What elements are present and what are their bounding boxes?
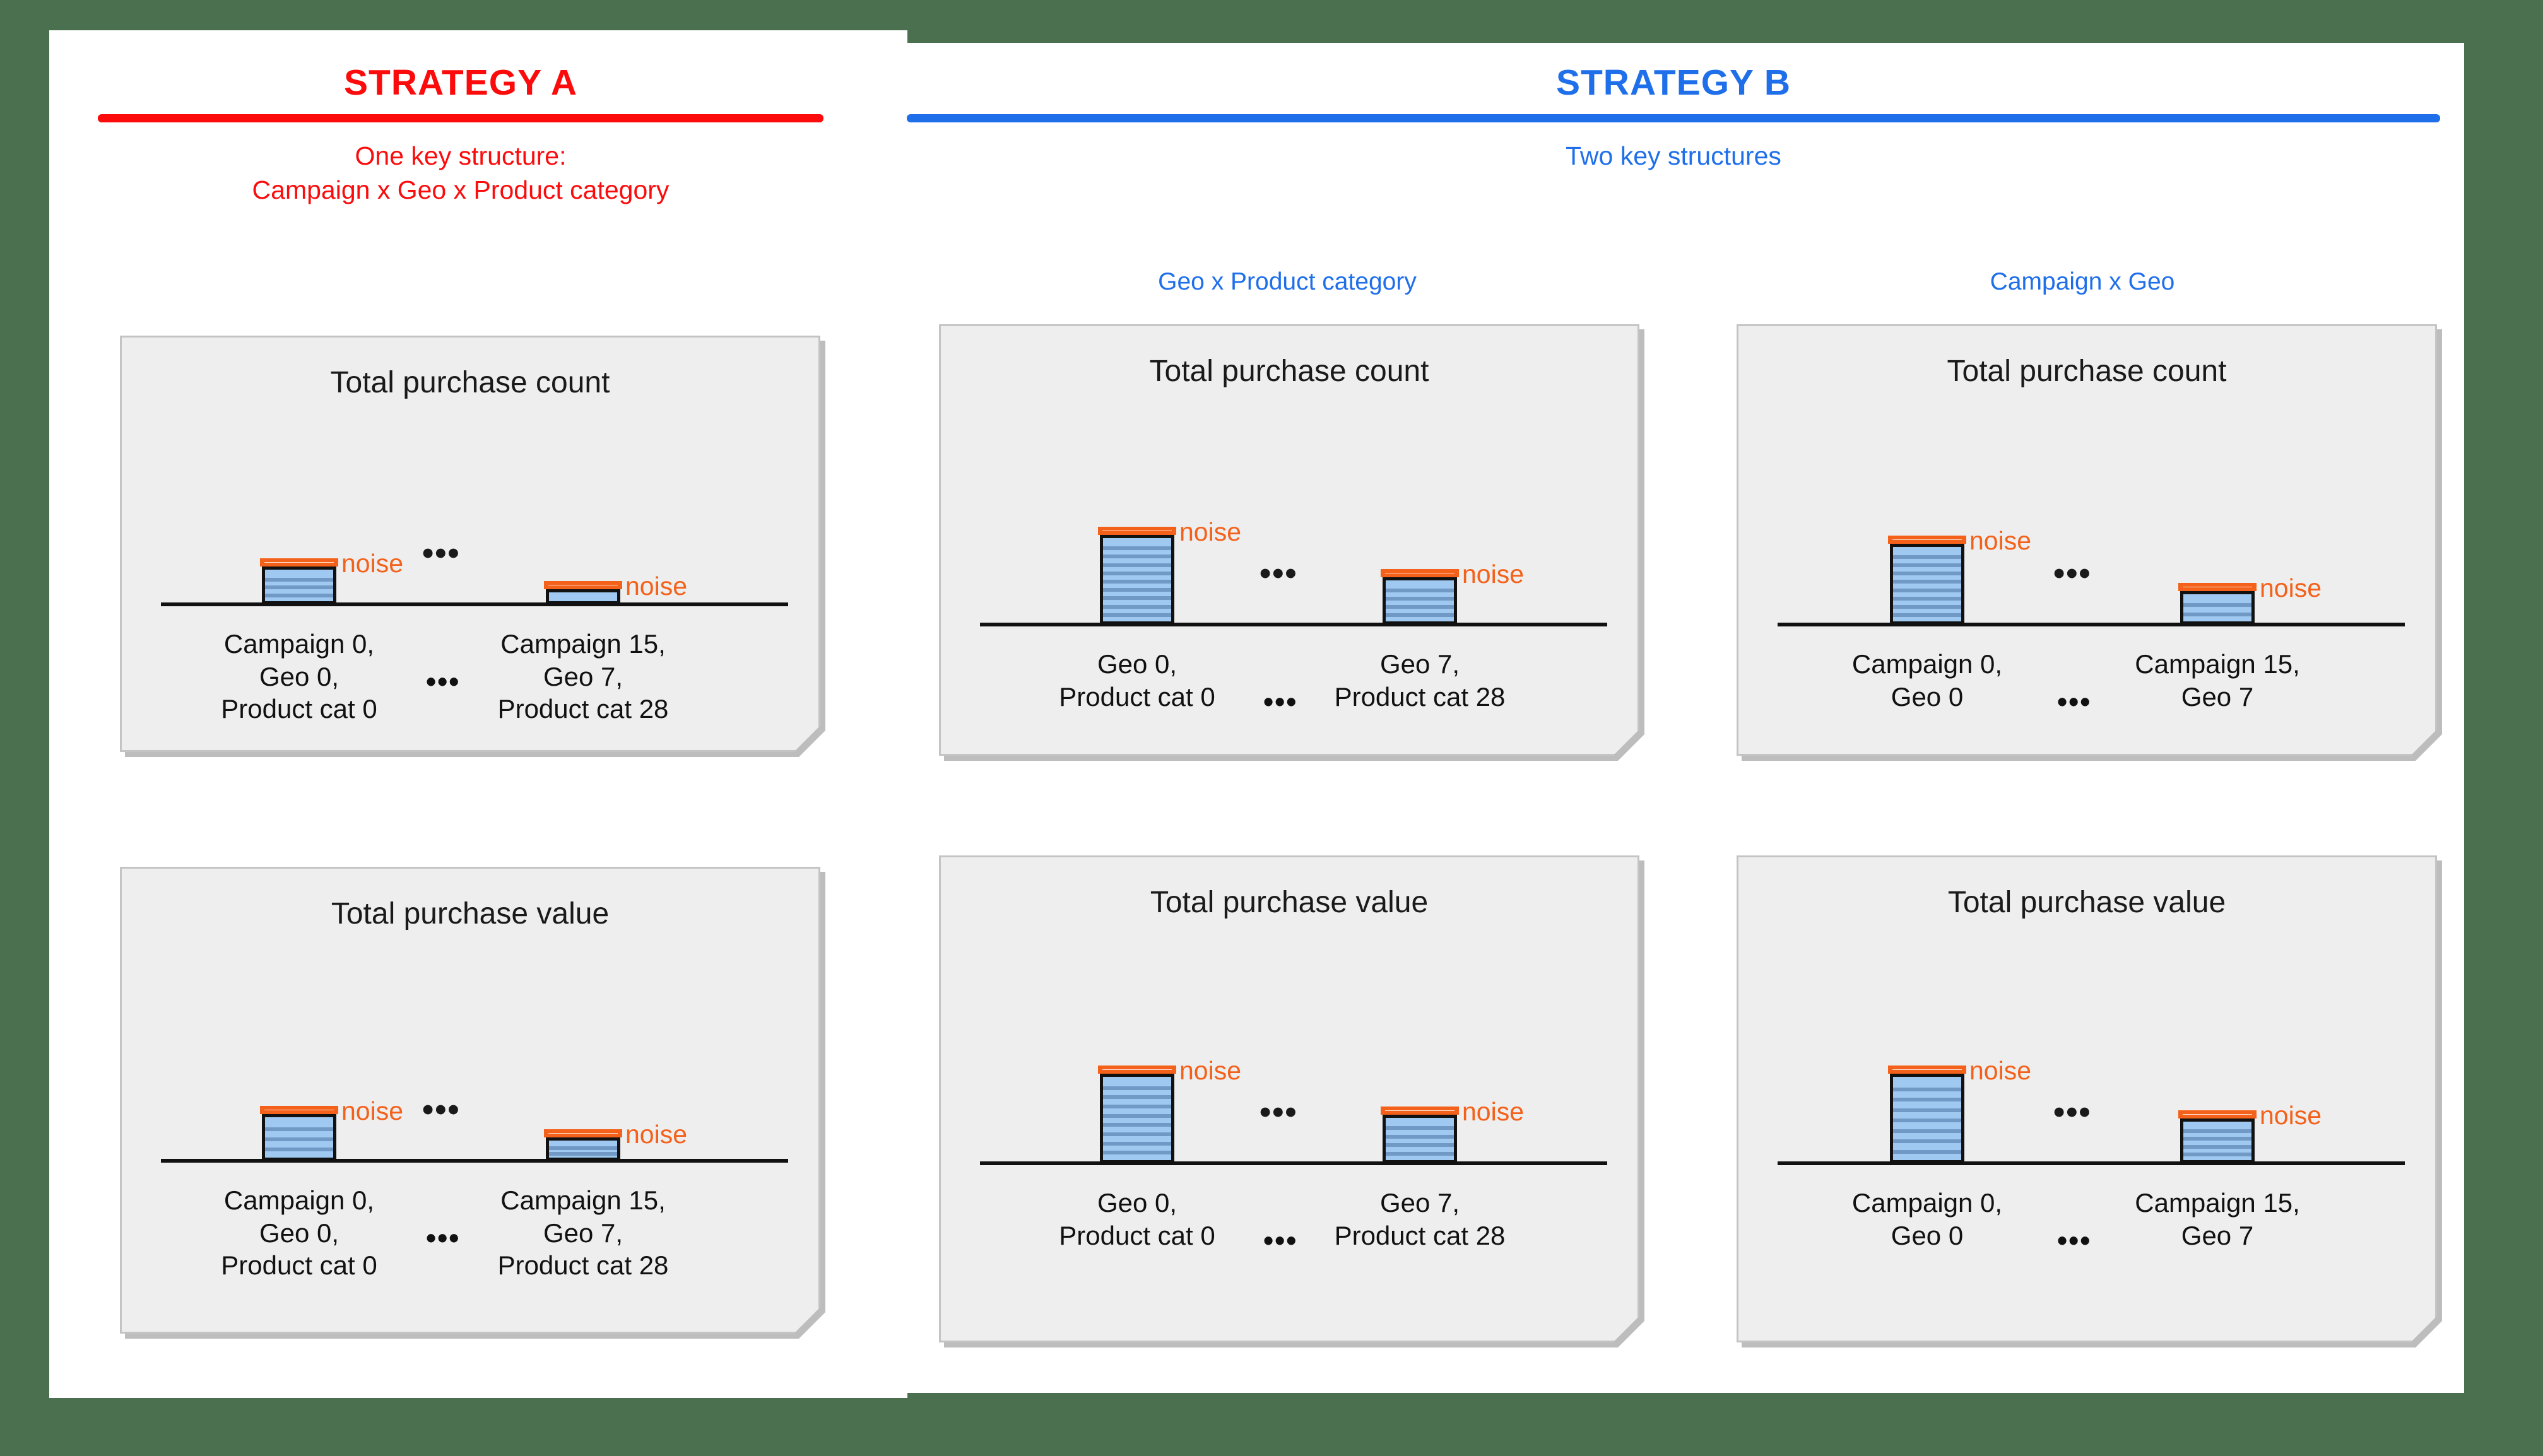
bar-segment-divider xyxy=(1103,1114,1171,1118)
chart-baseline-axis xyxy=(1778,1161,2405,1165)
bar-segment-divider xyxy=(265,578,333,582)
noise-cap-inner xyxy=(1385,1110,1454,1111)
noise-annotation-1: noise xyxy=(1462,561,1524,587)
bar-0[interactable] xyxy=(262,1114,336,1161)
bar-segment-divider xyxy=(1386,597,1454,601)
bar-segment-divider xyxy=(1103,580,1171,584)
bar-segment-divider xyxy=(1893,1088,1961,1091)
bar-segment-dividers xyxy=(2183,594,2251,621)
panel-title: Total purchase count xyxy=(941,354,1637,389)
bar-segment-divider xyxy=(1103,555,1171,558)
label-gap-ellipsis: ••• xyxy=(2057,687,2091,716)
bar-segment-divider xyxy=(1893,605,1961,609)
noise-cap-inner xyxy=(548,1133,618,1134)
bar-segment-dividers xyxy=(1103,1077,1171,1160)
bar-segment-divider xyxy=(1103,546,1171,550)
bar-segment-divider xyxy=(1103,572,1171,575)
chart-baseline-axis xyxy=(161,1159,788,1163)
metric-panel-b-geoprod-count[interactable]: Total purchase countnoiseGeo 0, Product … xyxy=(939,324,1639,756)
noise-cap-inner xyxy=(1102,531,1172,531)
bar-segment-divider xyxy=(1893,1108,1961,1112)
bar-segment-divider xyxy=(1386,1143,1454,1147)
strategy-a-subtitle: One key structure: Campaign x Geo x Prod… xyxy=(98,139,823,207)
metric-panel-b-campgeo-value[interactable]: Total purchase valuenoiseCampaign 0, Geo… xyxy=(1737,855,2437,1342)
bar-segment-dividers xyxy=(265,570,333,601)
label-gap-ellipsis: ••• xyxy=(1263,687,1297,716)
bar-segment-divider xyxy=(1386,589,1454,592)
bar-segment-dividers xyxy=(549,1141,617,1158)
noise-cap-inner xyxy=(1892,1069,1962,1070)
label-gap-ellipsis: ••• xyxy=(1263,1226,1297,1255)
noise-annotation-1: noise xyxy=(1462,1099,1524,1125)
bar-gap-ellipsis: ••• xyxy=(422,537,461,570)
bar-segment-divider xyxy=(1893,1129,1961,1133)
bar-segment-dividers xyxy=(1893,547,1961,621)
noise-cap-inner xyxy=(2183,1114,2252,1115)
noise-cap-inner xyxy=(1102,1069,1172,1070)
noise-cap-0 xyxy=(1888,536,1966,544)
bar-segment-divider xyxy=(1103,1123,1171,1127)
bar-segment-divider xyxy=(1893,563,1961,567)
label-gap-ellipsis: ••• xyxy=(426,667,460,696)
bar-segment-divider xyxy=(1103,1105,1171,1108)
bar-segment-divider xyxy=(2183,1153,2251,1156)
noise-cap-inner xyxy=(548,585,618,585)
chart-baseline-axis xyxy=(980,623,1607,626)
bar-segment-dividers xyxy=(265,1117,333,1158)
metric-panel-a-count[interactable]: Total purchase countnoiseCampaign 0, Geo… xyxy=(120,336,820,752)
bar-gap-ellipsis: ••• xyxy=(2053,1096,2092,1129)
bar-segment-divider xyxy=(2183,1145,2251,1149)
bar-segment-divider xyxy=(1893,613,1961,617)
bar-gap-ellipsis: ••• xyxy=(2053,557,2092,590)
panel-title: Total purchase count xyxy=(122,365,818,400)
noise-cap-0 xyxy=(1098,527,1176,535)
bar-segment-divider xyxy=(2183,603,2251,607)
bar-segment-divider xyxy=(1893,572,1961,575)
strategy-b-header: STRATEGY B Two key structures xyxy=(907,63,2440,173)
bar-segment-divider xyxy=(1103,1132,1171,1136)
noise-cap-0 xyxy=(260,558,338,567)
bar-segment-divider xyxy=(265,585,333,589)
bar-segment-dividers xyxy=(1386,1118,1454,1160)
noise-annotation-1: noise xyxy=(625,573,687,599)
bar-0[interactable] xyxy=(1890,1074,1964,1163)
bar-1[interactable] xyxy=(1383,577,1457,625)
noise-cap-0 xyxy=(1098,1066,1176,1074)
panel-title: Total purchase value xyxy=(1738,885,2435,920)
chart-baseline-axis xyxy=(161,602,788,606)
bar-segment-divider xyxy=(1103,1095,1171,1099)
bar-1[interactable] xyxy=(546,589,620,604)
bar-gap-ellipsis: ••• xyxy=(422,1093,461,1126)
bar-segment-divider xyxy=(1893,580,1961,584)
panel-title: Total purchase value xyxy=(941,885,1637,920)
label-gap-ellipsis: ••• xyxy=(2057,1226,2091,1255)
noise-cap-1 xyxy=(1381,569,1459,577)
noise-annotation-0: noise xyxy=(1969,1058,2031,1084)
bar-segment-divider xyxy=(1103,1142,1171,1146)
noise-cap-inner xyxy=(264,562,334,563)
bar-segment-divider xyxy=(265,1137,333,1141)
bar-segment-dividers xyxy=(2183,1122,2251,1160)
bar-segment-divider xyxy=(2183,1137,2251,1141)
noise-cap-inner xyxy=(1892,539,1962,540)
noise-cap-0 xyxy=(260,1106,338,1114)
bar-0[interactable] xyxy=(1890,544,1964,625)
noise-cap-1 xyxy=(1381,1107,1459,1115)
bar-segment-divider xyxy=(1893,597,1961,601)
bar-segment-divider xyxy=(1103,596,1171,600)
bar-segment-dividers xyxy=(1893,1077,1961,1160)
noise-annotation-0: noise xyxy=(341,1098,403,1124)
noise-annotation-0: noise xyxy=(341,551,403,577)
bar-1[interactable] xyxy=(2180,591,2255,625)
bar-1[interactable] xyxy=(546,1137,620,1161)
bar-gap-ellipsis: ••• xyxy=(1260,557,1298,590)
strategy-a-header: STRATEGY A One key structure: Campaign x… xyxy=(98,63,823,207)
noise-annotation-1: noise xyxy=(2260,1103,2322,1129)
substructure-label-geo-product: Geo x Product category xyxy=(940,268,1634,296)
chart-baseline-axis xyxy=(980,1161,1607,1165)
noise-annotation-1: noise xyxy=(625,1122,687,1148)
bar-gap-ellipsis: ••• xyxy=(1260,1096,1298,1129)
noise-annotation-1: noise xyxy=(2260,575,2322,601)
bar-segment-divider xyxy=(1103,605,1171,609)
chart-baseline-axis xyxy=(1778,623,2405,626)
bar-segment-divider xyxy=(1386,613,1454,617)
bar-segment-dividers xyxy=(549,592,617,601)
bar-segment-divider xyxy=(1103,563,1171,567)
bar-0[interactable] xyxy=(1100,1074,1174,1163)
noise-annotation-0: noise xyxy=(1969,528,2031,554)
bar-segment-dividers xyxy=(1103,538,1171,621)
bar-segment-divider xyxy=(1893,1098,1961,1101)
bar-segment-divider xyxy=(1893,1118,1961,1122)
bar-1[interactable] xyxy=(1383,1115,1457,1163)
bar-0[interactable] xyxy=(262,567,336,604)
bar-segment-divider xyxy=(1103,1086,1171,1090)
metric-panel-b-geoprod-value[interactable]: Total purchase valuenoiseGeo 0, Product … xyxy=(939,855,1639,1342)
bar-segment-divider xyxy=(1386,1135,1454,1139)
bar-segment-divider xyxy=(1386,605,1454,609)
bar-segment-divider xyxy=(1893,555,1961,559)
bar-segment-divider xyxy=(1103,1151,1171,1154)
noise-cap-1 xyxy=(544,1129,622,1137)
noise-cap-0 xyxy=(1888,1066,1966,1074)
label-gap-ellipsis: ••• xyxy=(426,1223,460,1252)
bar-segment-divider xyxy=(1386,1152,1454,1156)
noise-cap-1 xyxy=(544,581,622,589)
panel-title: Total purchase count xyxy=(1738,354,2435,389)
bar-segment-divider xyxy=(1893,1139,1961,1143)
panel-title: Total purchase value xyxy=(122,896,818,931)
substructure-label-campaign-geo: Campaign x Geo xyxy=(1735,268,2429,296)
metric-panel-b-campgeo-count[interactable]: Total purchase countnoiseCampaign 0, Geo… xyxy=(1737,324,2437,756)
bar-segment-divider xyxy=(1893,589,1961,592)
bar-segment-dividers xyxy=(1386,580,1454,621)
bar-segment-divider xyxy=(265,1148,333,1151)
bar-segment-divider xyxy=(265,1127,333,1131)
noise-annotation-0: noise xyxy=(1179,1058,1241,1084)
strategy-b-title: STRATEGY B xyxy=(907,63,2440,103)
bar-segment-divider xyxy=(2183,1129,2251,1133)
noise-cap-1 xyxy=(2178,583,2257,591)
strategy-a-divider xyxy=(98,114,823,122)
strategy-a-title: STRATEGY A xyxy=(98,63,823,103)
bar-segment-divider xyxy=(2183,613,2251,616)
bar-segment-divider xyxy=(1386,1126,1454,1130)
strategy-b-subtitle: Two key structures xyxy=(907,139,2440,173)
bar-segment-divider xyxy=(1893,1150,1961,1154)
bar-segment-divider xyxy=(549,1146,617,1150)
noise-annotation-0: noise xyxy=(1179,519,1241,545)
metric-panel-a-value[interactable]: Total purchase valuenoiseCampaign 0, Geo… xyxy=(120,867,820,1334)
bar-segment-divider xyxy=(1103,588,1171,592)
noise-cap-inner xyxy=(264,1110,334,1110)
bar-1[interactable] xyxy=(2180,1118,2255,1163)
bar-0[interactable] xyxy=(1100,535,1174,625)
noise-cap-inner xyxy=(1385,573,1454,573)
bar-segment-divider xyxy=(1103,613,1171,617)
bar-segment-divider xyxy=(549,1152,617,1156)
strategy-b-divider xyxy=(907,114,2440,122)
noise-cap-1 xyxy=(2178,1110,2257,1118)
noise-cap-inner xyxy=(2183,587,2252,587)
bar-segment-divider xyxy=(265,594,333,597)
